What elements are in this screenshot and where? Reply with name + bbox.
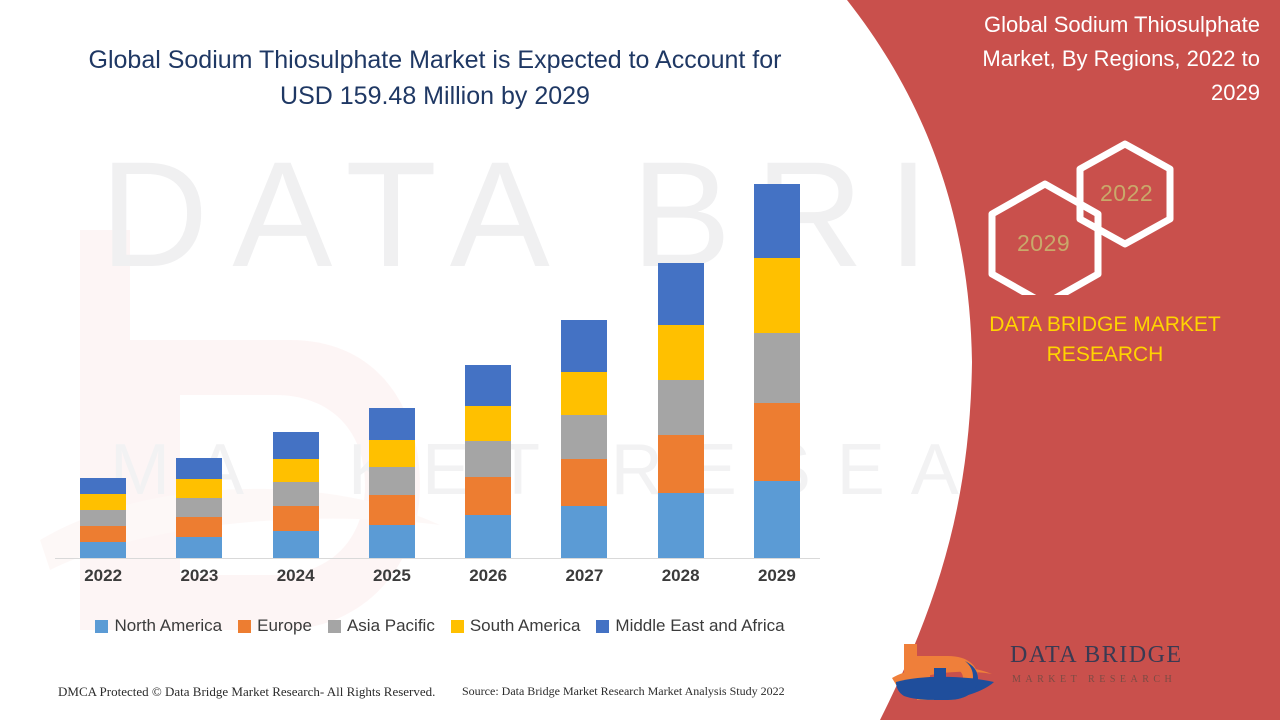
bar-segment-south-america	[80, 494, 126, 510]
bar-segment-europe	[273, 506, 319, 531]
bar-segment-north-america	[754, 481, 800, 558]
bar-column	[151, 150, 247, 558]
legend-label: Europe	[257, 616, 312, 636]
bar-segment-south-america	[369, 440, 415, 467]
bar-segment-europe	[176, 517, 222, 537]
brand-logo: DATA BRIDGE MARKET RESEARCH	[890, 638, 1180, 700]
bar-segment-europe	[80, 526, 126, 542]
bar-column	[729, 150, 825, 558]
infographic-root: DATA BRIDGE MARKET RESEARCH Global Sodiu…	[0, 0, 1280, 720]
bar-segment-middle-east-and-africa	[176, 458, 222, 479]
bar-segment-north-america	[658, 493, 704, 558]
bar-stack	[658, 263, 704, 558]
bar-segment-south-america	[658, 325, 704, 379]
bar-segment-north-america	[465, 515, 511, 558]
hexagon-pair-icon	[970, 140, 1210, 295]
legend-label: North America	[114, 616, 222, 636]
x-axis-label: 2022	[55, 566, 151, 586]
bar-segment-europe	[465, 477, 511, 515]
bar-segment-south-america	[561, 372, 607, 415]
bar-segment-north-america	[369, 525, 415, 558]
legend-item[interactable]: Middle East and Africa	[596, 616, 784, 636]
stacked-bar-chart	[55, 150, 825, 558]
legend-label: Asia Pacific	[347, 616, 435, 636]
bar-segment-south-america	[754, 258, 800, 333]
bar-column	[248, 150, 344, 558]
x-axis-label: 2024	[248, 566, 344, 586]
bar-segment-north-america	[176, 537, 222, 558]
bar-segment-asia-pacific	[273, 482, 319, 506]
brand-name: DATA BRIDGE MARKET RESEARCH	[950, 310, 1260, 370]
hexagon-2022-label: 2022	[1100, 180, 1153, 207]
bar-segment-middle-east-and-africa	[80, 478, 126, 494]
hexagon-2029-label: 2029	[1017, 230, 1070, 257]
bar-stack	[80, 478, 126, 558]
legend-item[interactable]: Asia Pacific	[328, 616, 435, 636]
bar-segment-middle-east-and-africa	[754, 184, 800, 258]
bar-segment-north-america	[80, 542, 126, 558]
bar-stack	[754, 184, 800, 558]
logo-sub-text: MARKET RESEARCH	[1012, 674, 1176, 685]
x-axis-labels: 20222023202420252026202720282029	[55, 566, 825, 586]
bar-stack	[465, 365, 511, 559]
bar-segment-middle-east-and-africa	[465, 365, 511, 406]
bar-segment-asia-pacific	[80, 510, 126, 526]
legend-swatch-icon	[95, 620, 108, 633]
x-axis-label: 2029	[729, 566, 825, 586]
bar-segment-asia-pacific	[754, 333, 800, 402]
source-text: Source: Data Bridge Market Research Mark…	[462, 684, 785, 699]
bar-stack	[561, 320, 607, 558]
bar-segment-middle-east-and-africa	[369, 408, 415, 440]
x-axis-label: 2028	[633, 566, 729, 586]
legend-item[interactable]: Europe	[238, 616, 312, 636]
bar-stack	[369, 408, 415, 558]
bar-stack	[273, 432, 319, 558]
copyright-text: DMCA Protected © Data Bridge Market Rese…	[58, 684, 435, 700]
chart-legend: North AmericaEuropeAsia PacificSouth Ame…	[55, 616, 825, 636]
bar-segment-asia-pacific	[369, 467, 415, 495]
legend-swatch-icon	[451, 620, 464, 633]
legend-item[interactable]: South America	[451, 616, 581, 636]
bar-segment-asia-pacific	[658, 380, 704, 435]
bar-segment-asia-pacific	[465, 441, 511, 477]
bar-segment-south-america	[176, 479, 222, 498]
bar-segment-asia-pacific	[176, 498, 222, 517]
x-axis-label: 2026	[440, 566, 536, 586]
bar-segment-south-america	[465, 406, 511, 441]
x-axis-label: 2025	[344, 566, 440, 586]
data-bridge-logo-icon	[890, 638, 1005, 700]
legend-swatch-icon	[328, 620, 341, 633]
page-title: Global Sodium Thiosulphate Market is Exp…	[60, 42, 810, 114]
bar-segment-middle-east-and-africa	[658, 263, 704, 325]
bar-segment-europe	[658, 435, 704, 493]
bar-segment-north-america	[273, 531, 319, 558]
legend-item[interactable]: North America	[95, 616, 222, 636]
bar-segment-middle-east-and-africa	[561, 320, 607, 371]
x-axis-label: 2027	[536, 566, 632, 586]
legend-label: Middle East and Africa	[615, 616, 784, 636]
bar-segment-north-america	[561, 506, 607, 558]
bar-segment-europe	[561, 459, 607, 506]
bar-stack	[176, 458, 222, 558]
x-axis-line	[55, 558, 820, 559]
bar-column	[344, 150, 440, 558]
chart-pane: Global Sodium Thiosulphate Market is Exp…	[0, 0, 870, 720]
legend-label: South America	[470, 616, 581, 636]
bar-column	[536, 150, 632, 558]
hexagon-group: 2022 2029	[970, 140, 1210, 295]
bar-column	[440, 150, 536, 558]
legend-swatch-icon	[238, 620, 251, 633]
panel-title: Global Sodium Thiosulphate Market, By Re…	[950, 8, 1260, 110]
logo-main-text: DATA BRIDGE	[1010, 642, 1183, 669]
x-axis-label: 2023	[151, 566, 247, 586]
red-panel-content: Global Sodium Thiosulphate Market, By Re…	[820, 0, 1280, 720]
bar-segment-south-america	[273, 459, 319, 482]
bar-segment-europe	[754, 403, 800, 481]
bar-segment-middle-east-and-africa	[273, 432, 319, 459]
bar-segment-asia-pacific	[561, 415, 607, 459]
bar-column	[633, 150, 729, 558]
legend-swatch-icon	[596, 620, 609, 633]
bar-column	[55, 150, 151, 558]
bar-segment-europe	[369, 495, 415, 525]
